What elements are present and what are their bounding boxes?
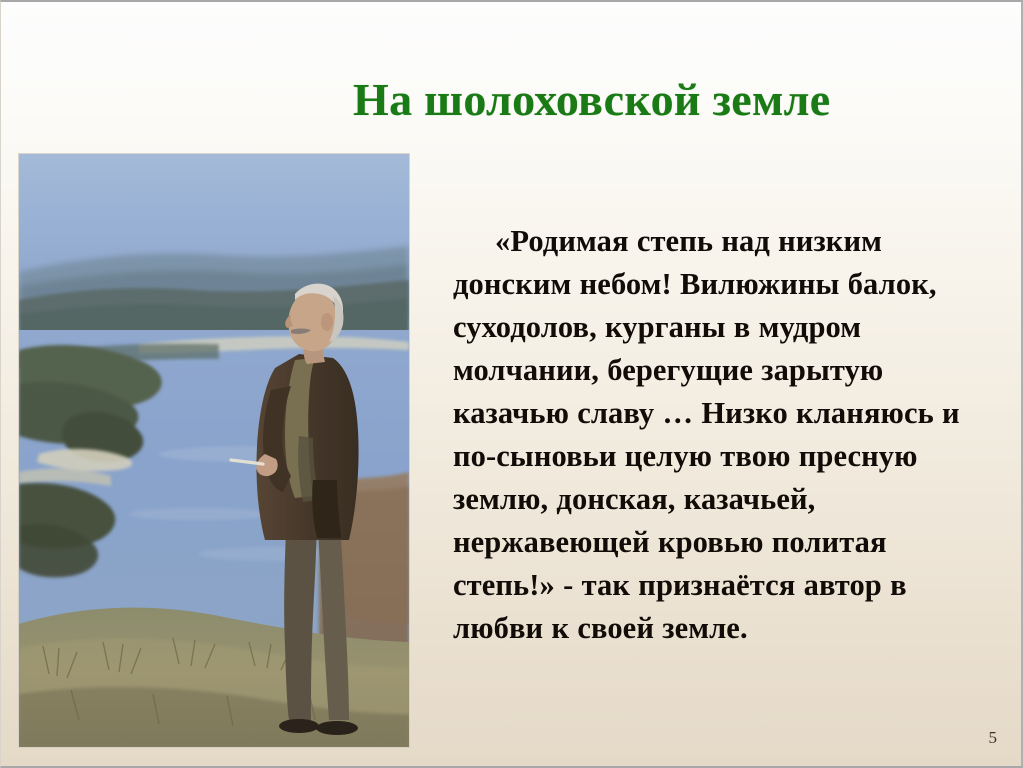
quote-paragraph: «Родимая степь над низким донским небом!… [453,220,981,650]
presentation-slide: На шолоховской земле [0,0,1023,768]
page-title: На шолоховской земле [353,76,1013,125]
page-number: 5 [989,728,998,748]
photo-frame [19,154,409,747]
photo-illustration [19,154,409,747]
photo-sholokhov-on-don-riverbank [19,154,409,747]
